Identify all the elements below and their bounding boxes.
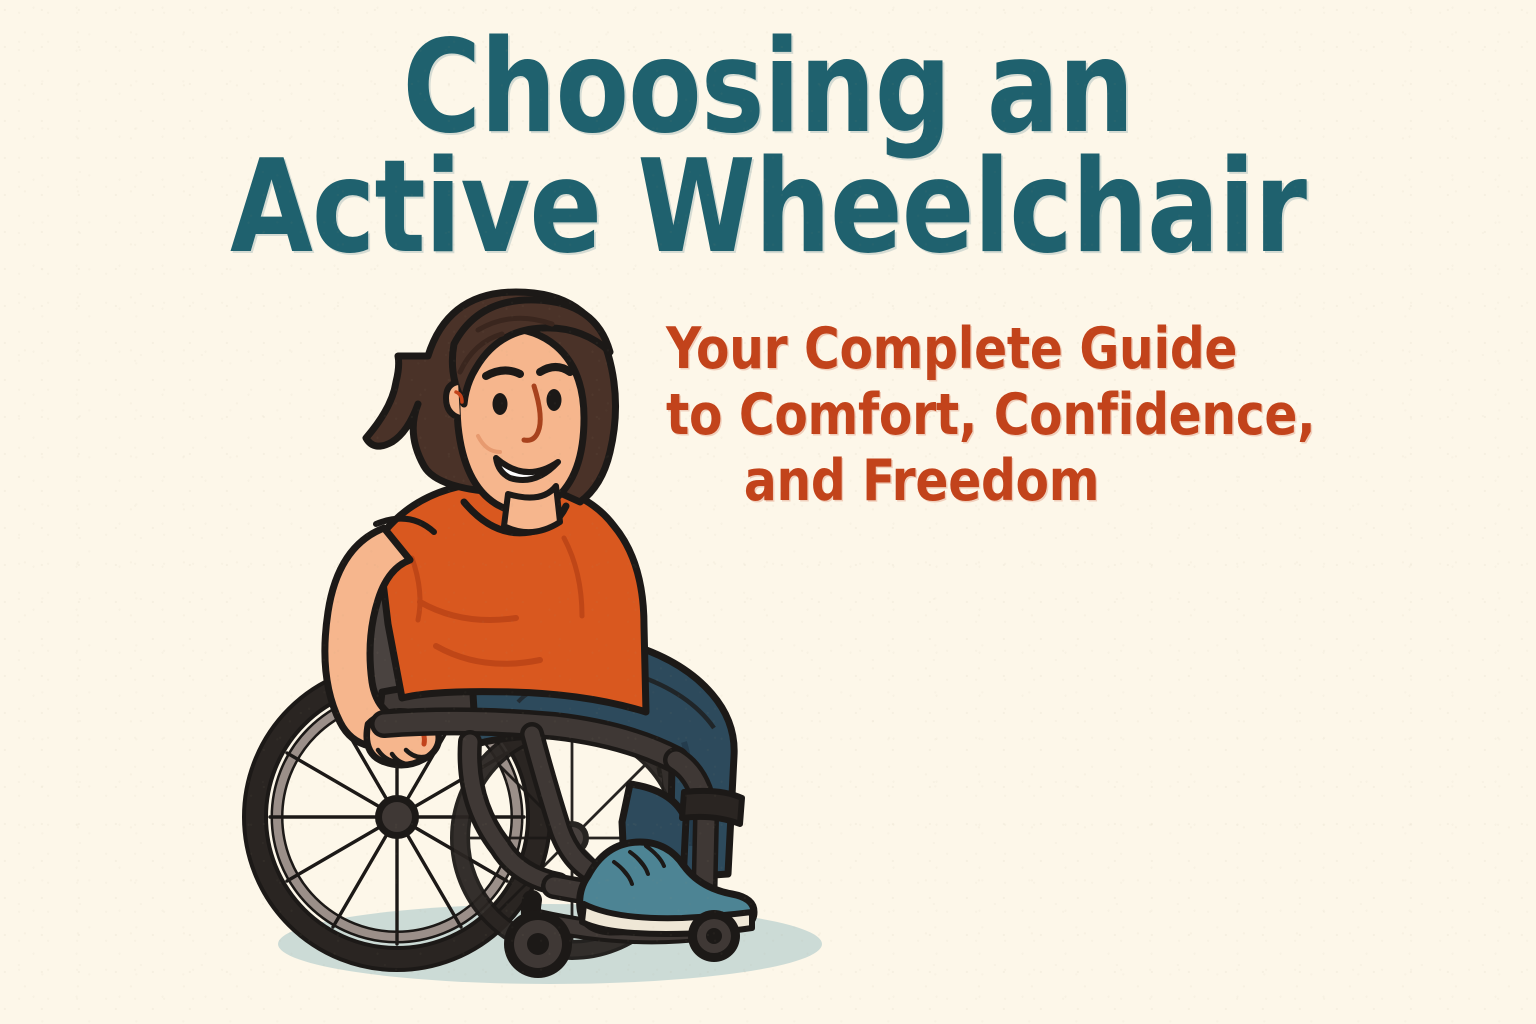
subtitle-line-1: Your Complete Guide — [666, 316, 1312, 382]
head — [366, 292, 616, 532]
page-title: Choosing an Active Wheelchair — [0, 28, 1536, 269]
title-line-2: Active Wheelchair — [54, 148, 1482, 268]
eye-left — [493, 393, 508, 415]
poster-canvas: Choosing an Active Wheelchair Your Compl… — [0, 0, 1536, 1024]
eye-right — [547, 389, 562, 411]
anti-tip-caster — [688, 910, 740, 962]
page-subtitle: Your Complete Guide to Comfort, Confiden… — [666, 316, 1346, 514]
calf-strap — [682, 791, 742, 824]
title-line-1: Choosing an — [54, 28, 1482, 148]
subtitle-line-2: to Comfort, Confidence, — [666, 382, 1312, 448]
ear — [446, 382, 460, 418]
subtitle-line-3: and Freedom — [666, 448, 1312, 514]
